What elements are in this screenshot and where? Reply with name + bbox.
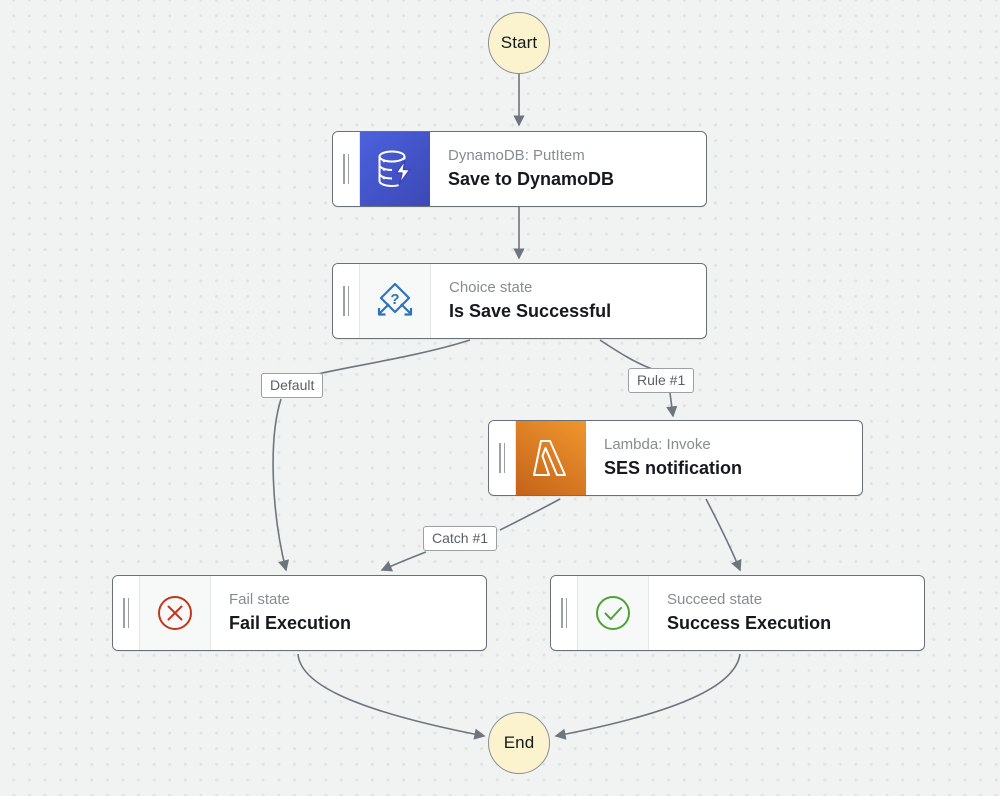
edge-lambda-to-success	[706, 499, 740, 570]
node-labels: DynamoDB: PutItem Save to DynamoDB	[430, 132, 706, 206]
edge-choice-to-rule1	[600, 340, 655, 370]
edge-fail-to-end	[298, 654, 484, 736]
start-node-label: Start	[501, 33, 537, 53]
node-labels: Fail state Fail Execution	[211, 576, 486, 650]
edge-success-to-end	[556, 654, 740, 736]
end-node[interactable]: End	[488, 712, 550, 774]
edge-label-default[interactable]: Default	[261, 373, 323, 398]
node-subtitle: Choice state	[449, 278, 706, 298]
edge-lambda-to-catch1	[500, 499, 560, 530]
edge-layer	[0, 0, 1000, 796]
start-node[interactable]: Start	[488, 12, 550, 74]
node-subtitle: Fail state	[229, 590, 486, 610]
edge-default-to-fail	[273, 399, 286, 570]
node-title: Success Execution	[667, 611, 924, 635]
node-labels: Choice state Is Save Successful	[431, 264, 706, 338]
svg-text:?: ?	[390, 291, 399, 308]
state-node-is-save-successful[interactable]: ? Choice state Is Save Successful	[332, 263, 707, 339]
node-title: SES notification	[604, 456, 862, 480]
state-node-ses-notification[interactable]: Lambda: Invoke SES notification	[488, 420, 863, 496]
node-subtitle: Lambda: Invoke	[604, 435, 862, 455]
drag-handle[interactable]	[333, 132, 360, 206]
state-node-success-execution[interactable]: Succeed state Success Execution	[550, 575, 925, 651]
edge-choice-to-default	[318, 340, 470, 374]
succeed-circle-check-icon	[578, 576, 649, 650]
end-node-label: End	[504, 733, 535, 753]
drag-handle[interactable]	[333, 264, 360, 338]
fail-circle-x-icon	[140, 576, 211, 650]
lambda-icon	[516, 421, 586, 495]
node-subtitle: DynamoDB: PutItem	[448, 146, 706, 166]
edge-label-catch-1[interactable]: Catch #1	[423, 526, 497, 551]
edge-rule1-to-lambda	[670, 393, 673, 416]
dynamodb-icon	[360, 132, 430, 206]
node-labels: Lambda: Invoke SES notification	[586, 421, 862, 495]
drag-handle[interactable]	[551, 576, 578, 650]
node-title: Save to DynamoDB	[448, 167, 706, 191]
drag-handle[interactable]	[489, 421, 516, 495]
node-labels: Succeed state Success Execution	[649, 576, 924, 650]
workflow-canvas[interactable]: Start DynamoDB: PutItem	[0, 0, 1000, 796]
state-node-fail-execution[interactable]: Fail state Fail Execution	[112, 575, 487, 651]
edge-label-rule-1[interactable]: Rule #1	[628, 368, 694, 393]
node-subtitle: Succeed state	[667, 590, 924, 610]
state-node-save-to-dynamodb[interactable]: DynamoDB: PutItem Save to DynamoDB	[332, 131, 707, 207]
choice-diamond-icon: ?	[360, 264, 431, 338]
drag-handle[interactable]	[113, 576, 140, 650]
edge-catch1-to-fail	[382, 552, 426, 570]
node-title: Fail Execution	[229, 611, 486, 635]
node-title: Is Save Successful	[449, 299, 706, 323]
